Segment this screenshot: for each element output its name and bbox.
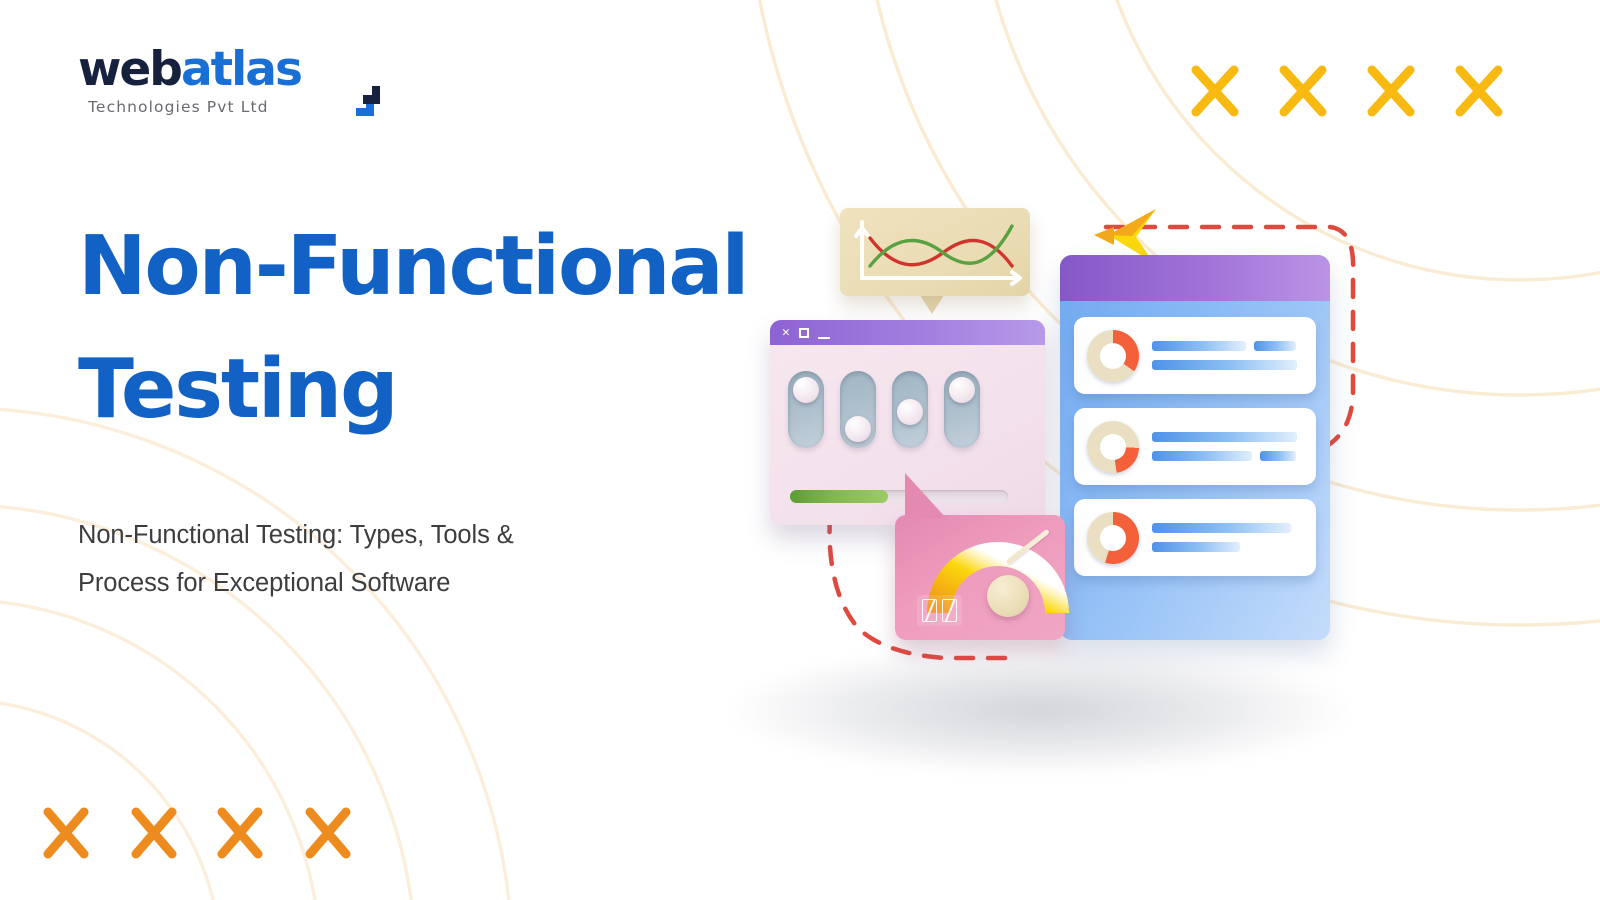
page-title: Non-Functional Testing bbox=[78, 205, 838, 451]
table-row bbox=[1152, 451, 1303, 461]
gauge-digit-readout bbox=[917, 595, 962, 626]
chart-tooltip-card bbox=[840, 208, 1030, 296]
donut-chart-icon bbox=[1087, 421, 1139, 473]
text-bar bbox=[1152, 341, 1246, 351]
gauge-card[interactable] bbox=[895, 515, 1065, 640]
text-bar-group bbox=[1152, 341, 1303, 370]
brand-logo[interactable]: webatlas Technologies Pvt Ltd bbox=[78, 44, 378, 134]
close-icon[interactable]: ✕ bbox=[782, 326, 790, 339]
text-bar bbox=[1254, 341, 1296, 351]
gauge-card-tail bbox=[905, 473, 947, 519]
toggle-knob bbox=[949, 377, 975, 403]
donut-chart-icon bbox=[1087, 330, 1139, 382]
page-title-line-1: Non-Functional bbox=[78, 205, 838, 328]
list-item[interactable] bbox=[1074, 499, 1316, 576]
text-bar-group bbox=[1152, 523, 1303, 552]
page-subtitle: Non-Functional Testing: Types, Tools & P… bbox=[78, 511, 678, 608]
table-row bbox=[1152, 432, 1303, 442]
page-subtitle-line-2: Process for Exceptional Software bbox=[78, 559, 678, 607]
line-chart-graphic bbox=[840, 208, 1030, 296]
page-subtitle-line-1: Non-Functional Testing: Types, Tools & bbox=[78, 511, 678, 559]
settings-window-titlebar: ✕ bbox=[770, 320, 1045, 345]
dashboard-window-titlebar bbox=[1060, 255, 1330, 301]
text-bar bbox=[1152, 451, 1252, 461]
progress-bar-track[interactable] bbox=[790, 490, 1008, 503]
text-bar bbox=[1152, 432, 1297, 442]
table-row bbox=[1152, 523, 1303, 533]
toggle-switch-3[interactable] bbox=[892, 371, 928, 448]
logo-word-web: web bbox=[78, 42, 181, 97]
poster-canvas: webatlas Technologies Pvt Ltd Non-Functi… bbox=[0, 0, 1600, 900]
toggle-switch-1[interactable] bbox=[788, 371, 824, 448]
dashboard-window[interactable] bbox=[1060, 255, 1330, 640]
table-row bbox=[1152, 341, 1303, 351]
list-item[interactable] bbox=[1074, 408, 1316, 485]
toggle-switch-group bbox=[770, 345, 1045, 448]
table-row bbox=[1152, 542, 1303, 552]
minimize-icon[interactable] bbox=[818, 337, 830, 339]
hero-illustration: ✕ bbox=[740, 170, 1380, 710]
toggle-knob bbox=[845, 416, 871, 442]
logo-word-atlas: atlas bbox=[181, 42, 301, 97]
logo-tagline: Technologies Pvt Ltd bbox=[88, 98, 378, 116]
x-mark-decoration-top-right bbox=[1190, 62, 1520, 120]
gauge-digit bbox=[922, 599, 937, 622]
arrow-up-right-icon bbox=[336, 82, 382, 128]
page-title-line-2: Testing bbox=[78, 328, 838, 451]
donut-chart-icon bbox=[1087, 512, 1139, 564]
text-bar bbox=[1152, 360, 1297, 370]
logo-wordmark: webatlas bbox=[78, 44, 378, 96]
toggle-switch-2[interactable] bbox=[840, 371, 876, 448]
text-bar bbox=[1152, 542, 1240, 552]
x-mark-decoration-bottom-left bbox=[42, 806, 362, 862]
gauge-hub bbox=[987, 575, 1029, 617]
table-row bbox=[1152, 360, 1303, 370]
toggle-knob bbox=[897, 399, 923, 425]
text-bar-group bbox=[1152, 432, 1303, 461]
text-bar bbox=[1152, 523, 1291, 533]
dashboard-card-list bbox=[1060, 301, 1330, 590]
progress-bar-fill bbox=[790, 490, 888, 503]
maximize-icon[interactable] bbox=[799, 328, 809, 338]
toggle-switch-4[interactable] bbox=[944, 371, 980, 448]
gauge-digit bbox=[942, 599, 957, 622]
list-item[interactable] bbox=[1074, 317, 1316, 394]
text-bar bbox=[1260, 451, 1296, 461]
toggle-knob bbox=[793, 377, 819, 403]
